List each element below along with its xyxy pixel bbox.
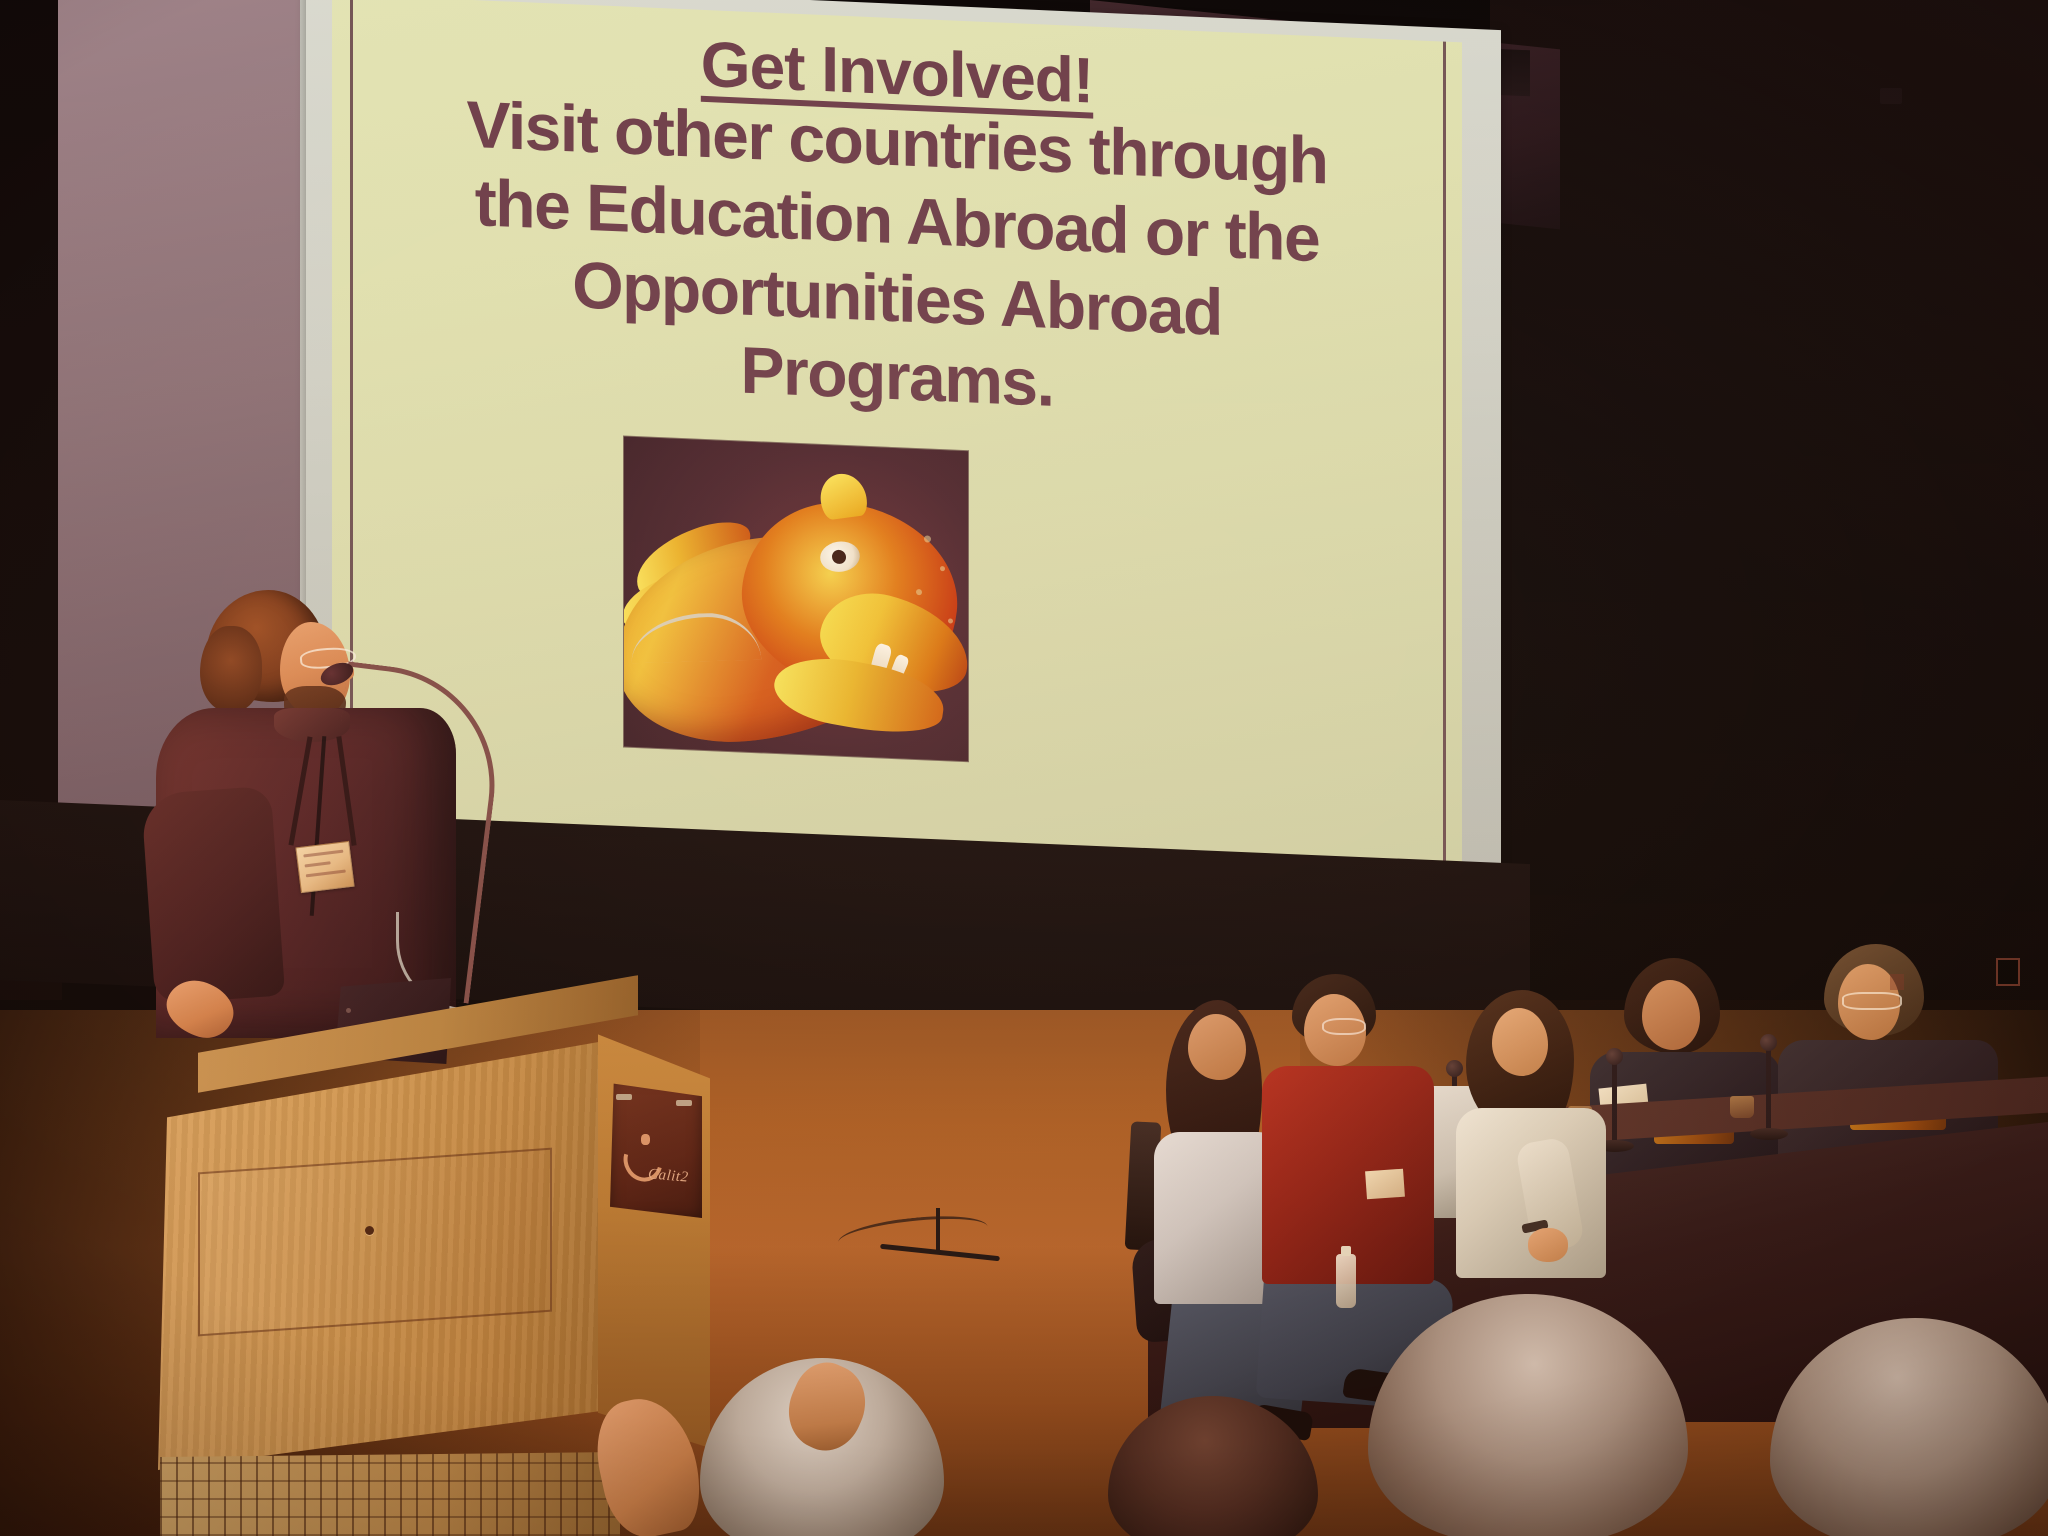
dragon-spark-1 (924, 535, 931, 542)
speaker-hair-side (200, 626, 262, 712)
speaker-arm (141, 786, 285, 1005)
panelist-1-head (1188, 1014, 1246, 1080)
panelist-2-glasses (1322, 1018, 1366, 1035)
presentation-photo-scene: Get Involved! Visit other countries thro… (0, 0, 2048, 1536)
water-bottle (1336, 1254, 1356, 1308)
podium-base (160, 1452, 620, 1536)
panelist-2-name-badge (1365, 1169, 1405, 1200)
right-dark-wall (1490, 0, 2048, 1040)
slide-image-dragon (624, 436, 968, 761)
laptop-hinge-dot (346, 1008, 351, 1013)
slide-body: Visit other countries through the Educat… (356, 81, 1438, 439)
wall-light-fixture-icon (1996, 958, 2020, 986)
panelist-3-hand (1528, 1228, 1568, 1262)
calit2-logo-text: Calit2 (647, 1166, 689, 1186)
panelist-woman-with-microphone (1440, 990, 1620, 1290)
panelist-5-glasses (1842, 992, 1902, 1010)
plate-standoff-top-right (676, 1100, 692, 1106)
panelist-3-head (1492, 1008, 1548, 1076)
ceiling-rig-hardware (1880, 88, 1902, 104)
dragon-spark-2 (940, 566, 945, 571)
plate-standoff-top-left (616, 1094, 632, 1100)
microphone-floor-stand (880, 1208, 1000, 1278)
dragon-spark-3 (916, 589, 922, 595)
podium-logo-plate: Calit2 (610, 1078, 702, 1218)
podium-side-panel (598, 1008, 710, 1448)
panelist-man-red-shirt (1246, 974, 1446, 1394)
table-microphone-right (1766, 1048, 1771, 1130)
wall-light-glow (1890, 974, 1904, 990)
podium-inset-panel (198, 1148, 552, 1337)
calit2-dot-icon (641, 1134, 650, 1145)
podium-lock-knob[interactable] (365, 1226, 374, 1235)
dragon-spark-4 (948, 618, 953, 623)
drinking-glass-right (1730, 1096, 1754, 1118)
projected-slide: Get Involved! Visit other countries thro… (332, 0, 1462, 862)
